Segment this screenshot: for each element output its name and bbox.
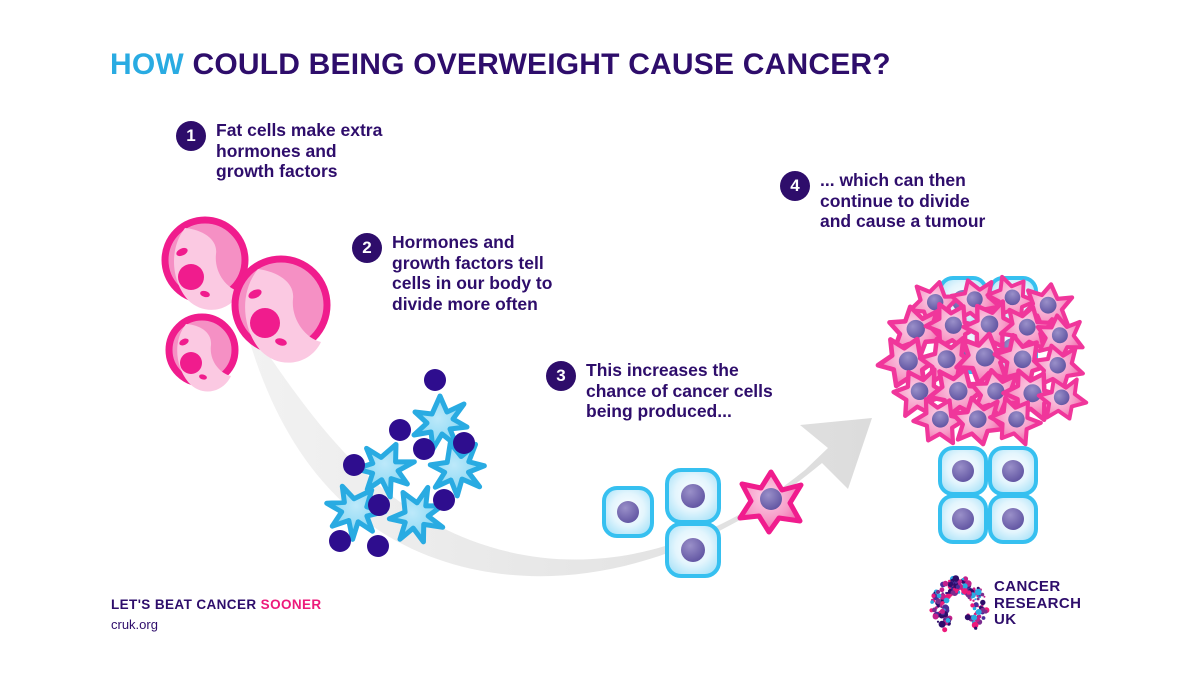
growth-factor-dot [453,432,475,454]
title-highlight: HOW [110,48,184,81]
logo-dot [930,600,934,604]
growth-factor-dot [424,369,446,391]
logo-dot [982,616,986,620]
logo-dot [940,609,945,614]
logo-dot [939,621,946,628]
logo-dot [944,598,950,604]
normal-cell [940,448,986,494]
logo-dot [970,603,974,607]
step-text-4: ... which can then continue to divide an… [820,170,985,232]
normal-cell [667,524,719,576]
step-text-1: Fat cells make extra hormones and growth… [216,120,382,182]
logo-line-2: RESEARCH [994,596,1081,613]
logo-dot [956,585,960,589]
logo-dot [937,594,942,599]
logo-dot [977,597,980,600]
logo-dot [962,578,964,580]
logo-dot [942,627,947,632]
logo-dot [965,614,971,620]
logo-dot [973,587,976,590]
logo-dot [933,614,939,620]
tumour-group [873,269,1090,542]
logo-dot [975,589,982,596]
logo-dot [936,590,940,594]
step-badge-3: 3 [546,361,576,391]
logo-dot [943,581,949,587]
cruk-logo-c-icon [928,575,990,637]
normal-cell [990,448,1036,494]
growth-factor-dot [433,489,455,511]
step-badge-4: 4 [780,171,810,201]
step-badge-1: 1 [176,121,206,151]
logo-dot [953,575,960,582]
step-text-2: Hormones and growth factors tell cells i… [392,232,552,314]
fat-cell [169,317,235,391]
logo-dot [976,609,982,615]
logo-dot [941,601,945,605]
logo-dot [978,615,982,619]
cruk-logo-text: CANCER RESEARCH UK [994,579,1081,629]
logo-dot [942,592,944,594]
normal-cell [940,496,986,542]
logo-dot [984,610,988,614]
growth-factor-dot [413,438,435,460]
logo-dot [975,622,977,624]
logo-dot [972,600,974,602]
fat-cell [235,259,327,363]
logo-dot [961,588,967,594]
illustration-layer [0,0,1200,675]
step-callout-4: 4 ... which can then continue to divide … [780,170,985,232]
logo-dot [968,596,971,599]
page-title: HOW COULD BEING OVERWEIGHT CAUSE CANCER? [110,48,891,82]
logo-dot [936,599,941,604]
fat-cell-group [165,220,327,391]
step-callout-3: 3 This increases the chance of cancer ce… [546,360,773,422]
logo-dot [951,590,956,595]
logo-dot [946,618,951,623]
logo-dot [967,593,969,595]
step-callout-2: 2 Hormones and growth factors tell cells… [352,232,552,314]
tagline-accent: SOONER [261,597,322,612]
normal-cell [604,488,652,536]
growth-factor-dot [343,454,365,476]
step-badge-2: 2 [352,233,382,263]
growth-factor-dot [389,419,411,441]
logo-line-1: CANCER [994,579,1081,596]
logo-dot [937,621,939,623]
logo-dot [948,580,951,583]
logo-dot [941,606,943,608]
logo-dot [971,615,977,621]
hormone-molecule-group [318,369,490,557]
growth-factor-dot [329,530,351,552]
logo-dot [932,594,936,598]
logo-line-3: UK [994,612,1081,629]
logo-dot [974,598,976,600]
cruk-logo[interactable]: CANCER RESEARCH UK [928,575,1098,637]
normal-cell [990,496,1036,542]
logo-dot [974,627,977,630]
footer-tagline: LET'S BEAT CANCER SOONER [111,597,322,612]
normal-cell [667,470,719,522]
growth-factor-dot [367,535,389,557]
step-text-3: This increases the chance of cancer cell… [586,360,773,422]
logo-dot [980,600,985,605]
tagline-primary: LET'S BEAT CANCER [111,597,261,612]
growth-factor-dot [368,494,390,516]
step-callout-1: 1 Fat cells make extra hormones and grow… [176,120,382,182]
logo-dot [983,596,985,598]
logo-dot [948,581,954,587]
tumour-mass [873,269,1090,452]
footer-url[interactable]: cruk.org [111,617,158,632]
infographic-canvas: HOW COULD BEING OVERWEIGHT CAUSE CANCER?… [0,0,1200,675]
title-rest: COULD BEING OVERWEIGHT CAUSE CANCER? [184,48,891,81]
logo-dot [940,587,945,592]
logo-dot [967,617,969,619]
logo-dot [932,608,937,613]
